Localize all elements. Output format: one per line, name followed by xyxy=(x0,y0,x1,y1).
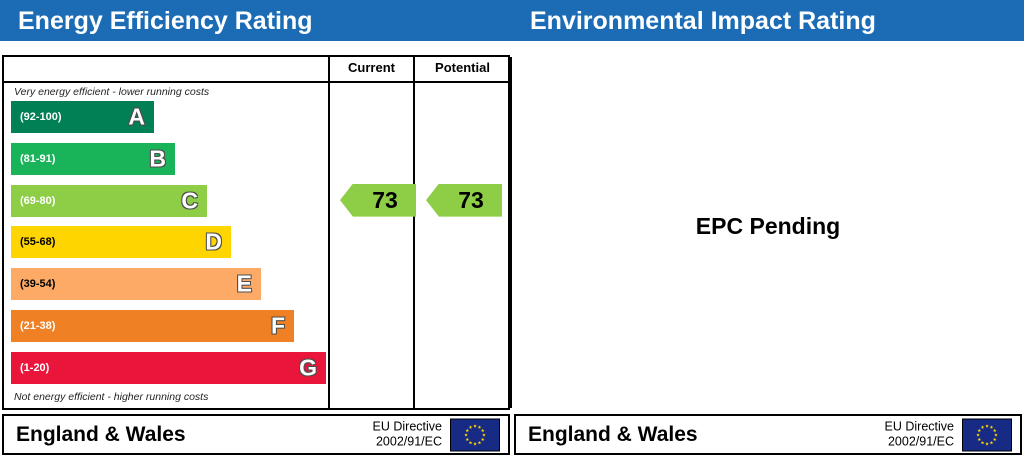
column-header-current: Current xyxy=(330,60,413,75)
rating-band-d: (55-68) D xyxy=(11,226,231,258)
environmental-impact-panel: Environmental Impact Rating EPC Pending … xyxy=(512,0,1024,457)
environmental-body: EPC Pending xyxy=(514,41,1022,410)
epc-pending-status: EPC Pending xyxy=(514,213,1022,240)
rating-band-b: (81-91) B xyxy=(11,143,175,175)
efficiency-note-top: Very energy efficient - lower running co… xyxy=(14,86,209,98)
band-range-b: (81-91) xyxy=(20,153,55,165)
band-range-a: (92-100) xyxy=(20,111,62,123)
eu-stars-svg xyxy=(963,419,1011,450)
energy-rating-chart: Current Potential Very energy efficient … xyxy=(2,55,510,410)
band-range-g: (1-20) xyxy=(20,362,49,374)
energy-title-bar: Energy Efficiency Rating xyxy=(0,0,512,41)
column-header-potential: Potential xyxy=(415,60,510,75)
column-divider-2 xyxy=(413,57,415,408)
directive-line-1: EU Directive xyxy=(885,419,954,435)
eu-flag-icon xyxy=(450,418,500,451)
rating-bands-area: Very energy efficient - lower running co… xyxy=(4,83,326,408)
band-range-e: (39-54) xyxy=(20,278,55,290)
epc-certificate: Energy Efficiency Rating Current Potenti… xyxy=(0,0,1024,457)
band-letter-b: B xyxy=(149,147,166,170)
eu-flag-icon xyxy=(962,418,1012,451)
energy-panel-title: Energy Efficiency Rating xyxy=(18,7,313,36)
band-range-f: (21-38) xyxy=(20,320,55,332)
band-letter-g: G xyxy=(299,356,317,379)
band-range-c: (69-80) xyxy=(20,195,55,207)
footer-region-label-left: England & Wales xyxy=(16,423,186,447)
rating-band-c: (69-80) C xyxy=(11,185,207,217)
eu-stars-svg xyxy=(451,419,499,450)
energy-efficiency-panel: Energy Efficiency Rating Current Potenti… xyxy=(0,0,512,457)
directive-line-2: 2002/91/EC xyxy=(885,435,954,451)
current-rating-arrow: 73 xyxy=(340,184,416,217)
footer-directive-right: EU Directive 2002/91/EC xyxy=(885,419,954,450)
rating-band-a: (92-100) A xyxy=(11,101,154,133)
directive-line-2: 2002/91/EC xyxy=(373,435,442,451)
directive-line-1: EU Directive xyxy=(373,419,442,435)
column-divider-1 xyxy=(328,57,330,408)
footer-left: England & Wales EU Directive 2002/91/EC xyxy=(2,414,510,455)
environmental-title-bar: Environmental Impact Rating xyxy=(512,0,1024,41)
band-letter-c: C xyxy=(181,189,198,212)
potential-rating-value: 73 xyxy=(444,189,484,212)
environmental-panel-title: Environmental Impact Rating xyxy=(530,7,876,36)
band-letter-d: D xyxy=(205,231,222,254)
rating-band-g: (1-20) G xyxy=(11,352,326,384)
band-range-d: (55-68) xyxy=(20,236,55,248)
efficiency-note-bottom: Not energy efficient - higher running co… xyxy=(14,391,208,403)
band-letter-e: E xyxy=(237,273,252,296)
rating-band-f: (21-38) F xyxy=(11,310,294,342)
footer-directive-left: EU Directive 2002/91/EC xyxy=(373,419,442,450)
footer-region-label-right: England & Wales xyxy=(528,423,698,447)
potential-rating-arrow: 73 xyxy=(426,184,502,217)
band-letter-f: F xyxy=(271,315,285,338)
footer-right: England & Wales EU Directive 2002/91/EC xyxy=(514,414,1022,455)
current-rating-value: 73 xyxy=(358,189,398,212)
band-letter-a: A xyxy=(128,106,145,129)
rating-band-e: (39-54) E xyxy=(11,268,261,300)
